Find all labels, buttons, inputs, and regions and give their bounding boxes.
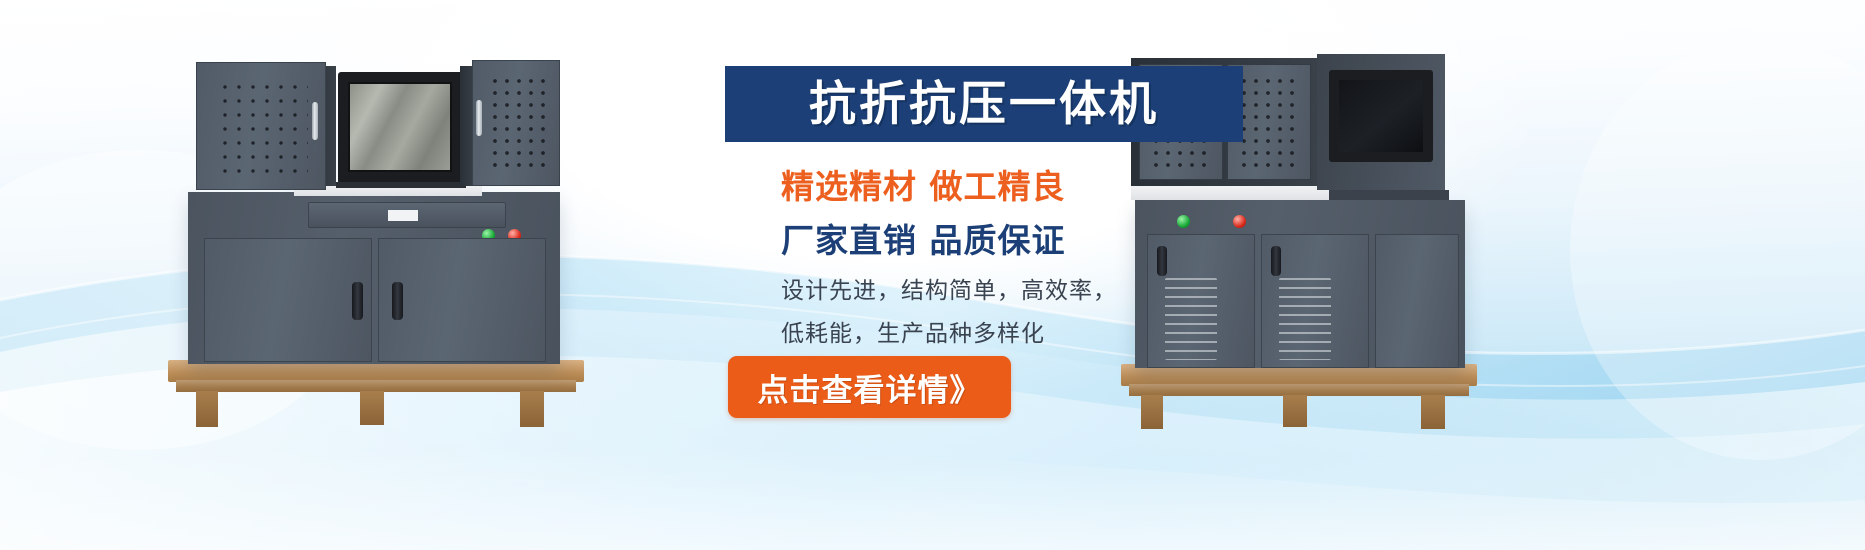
page-title: 抗折抗压一体机 bbox=[809, 81, 1159, 128]
view-details-button[interactable]: 点击查看详情》 bbox=[728, 356, 1011, 418]
description-line-2: 低耗能，生产品种多样化 bbox=[781, 314, 1045, 348]
monitor-base-shadow bbox=[336, 182, 466, 188]
drawer-label-plate bbox=[388, 210, 418, 221]
product-image-left bbox=[160, 42, 590, 432]
pallet-leg-right bbox=[520, 391, 544, 427]
lower-door-right bbox=[378, 238, 546, 362]
monitor-stand bbox=[1329, 190, 1449, 200]
headline-secondary: 厂家直销 品质保证 bbox=[781, 214, 1066, 262]
monitor-screen bbox=[348, 82, 452, 172]
upper-right-cabinet-handle bbox=[476, 100, 482, 136]
upper-left-perforated-grid bbox=[214, 76, 308, 174]
lower-door-left-handle bbox=[352, 282, 363, 320]
banner-title-bar: 抗折抗压一体机 bbox=[725, 66, 1243, 142]
pallet-leg-mid bbox=[360, 391, 384, 425]
banner-text-block: 抗折抗压一体机 精选精材 做工精良 厂家直销 品质保证 设计先进，结构简单，高效… bbox=[735, 66, 1295, 486]
pallet-leg-left bbox=[196, 391, 218, 427]
headline-primary: 精选精材 做工精良 bbox=[781, 160, 1066, 208]
lower-door-far-right bbox=[1375, 234, 1459, 368]
lower-door-right-handle bbox=[392, 282, 403, 320]
promo-banner: 抗折抗压一体机 精选精材 做工精良 厂家直销 品质保证 设计先进，结构简单，高效… bbox=[0, 0, 1865, 550]
monitor-screen bbox=[1339, 80, 1423, 152]
upper-left-cabinet-handle bbox=[312, 102, 318, 140]
view-details-button-label: 点击查看详情》 bbox=[758, 365, 982, 410]
upper-right-perforated-grid bbox=[486, 72, 548, 172]
lower-door-left bbox=[204, 238, 372, 362]
description-line-1: 设计先进，结构简单，高效率， bbox=[781, 271, 1117, 305]
pallet-leg-right bbox=[1421, 395, 1445, 429]
